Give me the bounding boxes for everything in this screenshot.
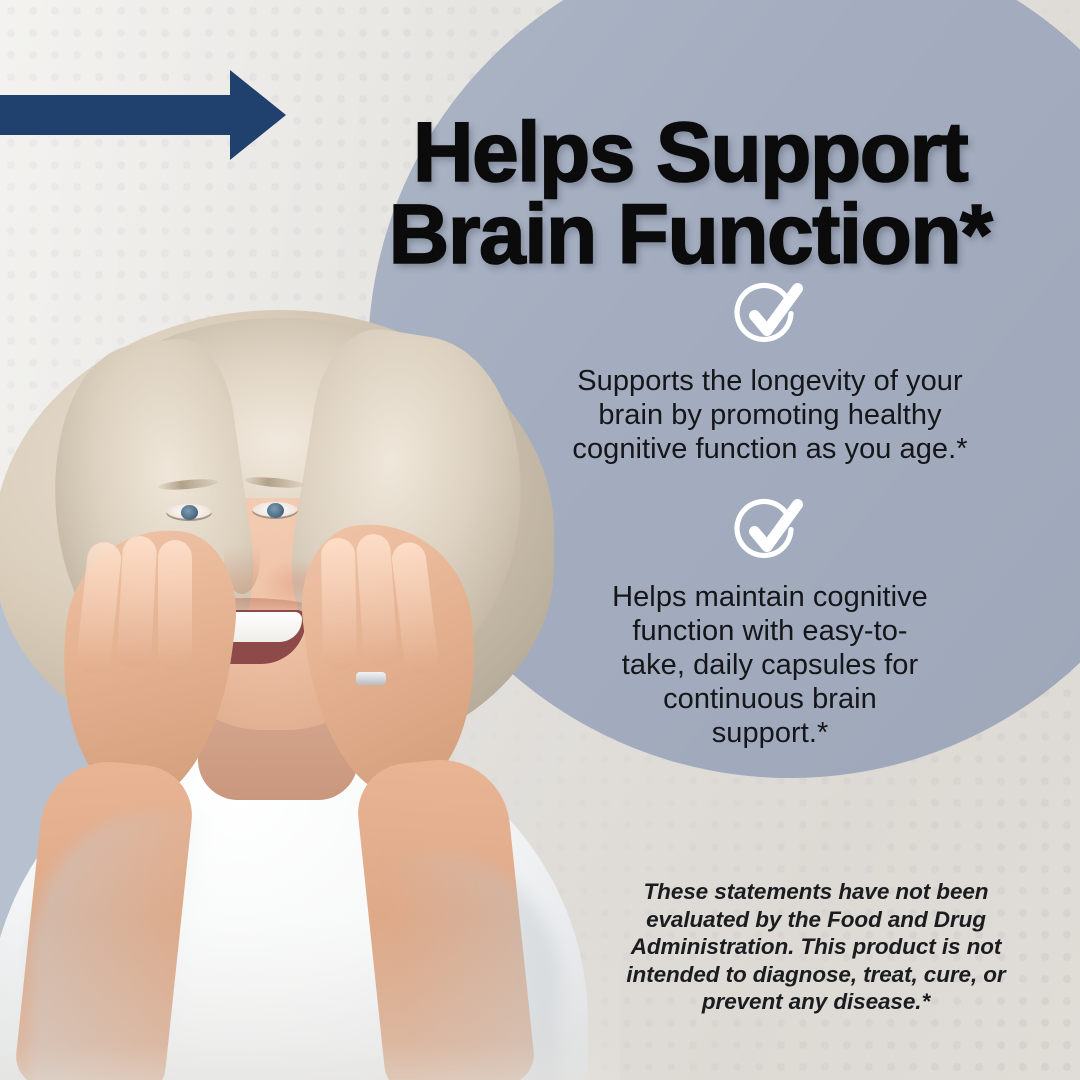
disclaimer-line-4: intended to diagnose, treat, cure, or <box>596 961 1036 989</box>
benefit-2-line-5: support.* <box>540 716 1000 750</box>
headline-line-1: Helps Support <box>330 112 1050 193</box>
headline-line-2: Brain Function* <box>330 194 1050 275</box>
benefit-item-1: Supports the longevity of your brain by … <box>520 282 1020 466</box>
benefit-1-line-2: brain by promoting healthy <box>540 398 1000 432</box>
benefit-1-line-1: Supports the longevity of your <box>540 364 1000 398</box>
disclaimer-line-1: These statements have not been <box>596 878 1036 906</box>
benefit-2-line-3: take, daily capsules for <box>540 648 1000 682</box>
arrow-right-icon <box>0 60 294 170</box>
benefit-text-2: Helps maintain cognitive function with e… <box>540 580 1000 750</box>
disclaimer-line-3: Administration. This product is not <box>596 933 1036 961</box>
benefit-2-line-4: continuous brain <box>540 682 1000 716</box>
disclaimer-line-5: prevent any disease.* <box>596 988 1036 1016</box>
fda-disclaimer: These statements have not been evaluated… <box>596 878 1036 1016</box>
benefit-1-line-3: cognitive function as you age.* <box>540 432 1000 466</box>
check-circle-icon <box>734 282 806 348</box>
promo-canvas: Helps Support Brain Function* Supports t… <box>0 0 1080 1080</box>
benefit-item-2: Helps maintain cognitive function with e… <box>520 498 1020 750</box>
benefit-2-line-2: function with easy-to- <box>540 614 1000 648</box>
benefit-text-1: Supports the longevity of your brain by … <box>540 364 1000 466</box>
benefit-list: Supports the longevity of your brain by … <box>520 282 1020 750</box>
check-circle-icon <box>734 498 806 564</box>
page-title: Helps Support Brain Function* <box>330 112 1050 275</box>
benefit-2-line-1: Helps maintain cognitive <box>540 580 1000 614</box>
disclaimer-line-2: evaluated by the Food and Drug <box>596 906 1036 934</box>
